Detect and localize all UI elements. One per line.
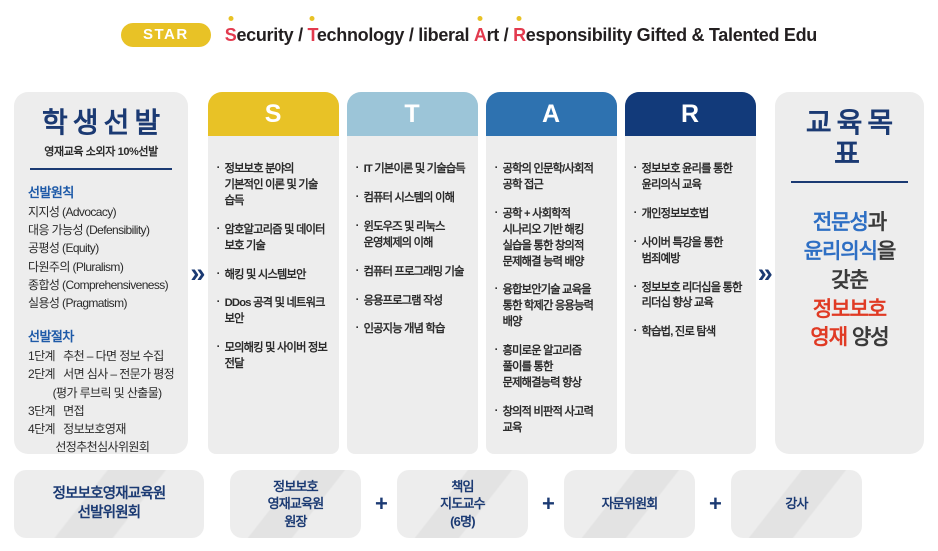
main-row: 학생선발 영재교육 소외자 10%선발 선발원칙 지지성 (Advocacy)대… bbox=[14, 92, 924, 454]
principle-item: 실용성 (Pragmatism) bbox=[28, 294, 174, 312]
star-item: 응용프로그램 작성 bbox=[356, 294, 469, 310]
bottom-box-instructors: 강사 bbox=[731, 470, 862, 538]
star-item: 공학 + 사회학적 시나리오 기반 해킹 실습을 통한 창의적 문제해결 능력 … bbox=[495, 207, 608, 271]
star-item: 컴퓨터 프로그래밍 기술 bbox=[356, 265, 469, 281]
selection-process-heading: 선발절차 bbox=[28, 326, 174, 345]
bottom-box-advisory: 자문위원회 bbox=[564, 470, 695, 538]
goal-segment: 을 bbox=[877, 240, 895, 263]
process-item: 2단계 서면 심사 – 전문가 평정 bbox=[28, 365, 174, 383]
star-column-body-S: 정보보호 분야의 기본적인 이론 및 기술 습득암호알고리즘 및 데이터 보호 … bbox=[208, 136, 339, 454]
goal-segment: 갖춘 bbox=[831, 269, 868, 292]
star-item: 공학의 인문학/사회적 공학 접근 bbox=[495, 162, 608, 194]
bottom-box-line: 영재교육원 bbox=[268, 496, 324, 511]
bottom-box-text: 책임지도교수(6명) bbox=[440, 478, 485, 530]
tagline-text-3: echnology / liberal bbox=[317, 25, 474, 45]
star-item: 모의해킹 및 사이버 정보 전달 bbox=[217, 341, 330, 373]
bottom-box-text: 정보보호영재교육원선발위원회 bbox=[53, 485, 166, 524]
divider bbox=[791, 181, 908, 183]
goal-segment: 정보보호 bbox=[813, 298, 886, 321]
selection-process-list: 1단계 추천 – 다면 정보 수집2단계 서면 심사 – 전문가 평정 (평가 … bbox=[28, 347, 174, 456]
bottom-box-text: 정보보호영재교육원원장 bbox=[268, 478, 324, 530]
process-item: (평가 루브릭 및 산출물) bbox=[28, 384, 174, 402]
goal-segment: 영재 bbox=[810, 326, 847, 349]
bottom-row: 정보보호영재교육원선발위원회 정보보호영재교육원원장 + 책임지도교수(6명) … bbox=[14, 470, 924, 538]
star-column-header-S: S bbox=[208, 92, 339, 136]
star-column-body-T: IT 기본이론 및 기술습득컴퓨터 시스템의 이해윈도우즈 및 리눅스 운영체제… bbox=[347, 136, 478, 454]
star-columns: S정보보호 분야의 기본적인 이론 및 기술 습득암호알고리즘 및 데이터 보호… bbox=[208, 92, 756, 454]
student-selection-panel: 학생선발 영재교육 소외자 10%선발 선발원칙 지지성 (Advocacy)대… bbox=[14, 92, 188, 454]
star-item: 윈도우즈 및 리눅스 운영체제의 이해 bbox=[356, 220, 469, 252]
principle-item: 지지성 (Advocacy) bbox=[28, 203, 174, 221]
bottom-box-line: 정보보호 bbox=[273, 479, 318, 494]
bottom-box-line: 강사 bbox=[785, 496, 807, 511]
student-selection-title: 학생선발 bbox=[28, 108, 174, 139]
process-item: 1단계 추천 – 다면 정보 수집 bbox=[28, 347, 174, 365]
chevron-right-icon-left: » bbox=[188, 92, 207, 454]
education-goal-text: 전문성과윤리의식을갖춘정보보호영재 양성 bbox=[789, 209, 910, 354]
goal-segment: 윤리의식 bbox=[804, 240, 877, 263]
goal-segment: 전문성 bbox=[813, 211, 868, 234]
star-item: 정보보호 리더십을 통한 리더십 향상 교육 bbox=[634, 281, 747, 313]
plus-icon-3: + bbox=[709, 493, 717, 515]
tagline: Security / Technology / liberal Art / Re… bbox=[225, 25, 817, 46]
star-column-R: R정보보호 윤리를 통한 윤리의식 교육개인정보보호법사이버 특강을 통한 범죄… bbox=[625, 92, 756, 454]
bottom-box-text: 강사 bbox=[785, 495, 807, 512]
star-badge: STAR bbox=[121, 23, 211, 47]
bottom-box-line: 자문위원회 bbox=[602, 496, 658, 511]
divider bbox=[30, 168, 172, 170]
star-item: DDos 공격 및 네트워크 보안 bbox=[217, 296, 330, 328]
goal-line: 정보보호 bbox=[789, 296, 910, 325]
star-item: 학습법, 진로 탐색 bbox=[634, 325, 747, 341]
tagline-text-5: rt / bbox=[487, 25, 514, 45]
star-column-A: A공학의 인문학/사회적 공학 접근공학 + 사회학적 시나리오 기반 해킹 실… bbox=[486, 92, 617, 454]
education-goal-panel: 교육목표 전문성과윤리의식을갖춘정보보호영재 양성 bbox=[775, 92, 924, 454]
star-column-header-R: R bbox=[625, 92, 756, 136]
goal-line: 갖춘 bbox=[789, 267, 910, 296]
tagline-capital-T: T bbox=[307, 25, 316, 45]
bottom-box-line: 책임 bbox=[451, 479, 473, 494]
selection-principles-heading: 선발원칙 bbox=[28, 182, 174, 201]
tagline-capital-A: A bbox=[474, 25, 487, 45]
goal-segment: 과 bbox=[868, 211, 886, 234]
process-item: 선정추천심사위원회 bbox=[28, 438, 174, 456]
bottom-box-director: 정보보호영재교육원원장 bbox=[230, 470, 361, 538]
star-item: 정보보호 윤리를 통한 윤리의식 교육 bbox=[634, 162, 747, 194]
principle-item: 공평성 (Equity) bbox=[28, 239, 174, 257]
selection-principles-list: 지지성 (Advocacy)대응 가능성 (Defensibility)공평성 … bbox=[28, 203, 174, 312]
process-item: 3단계 면접 bbox=[28, 402, 174, 420]
star-column-S: S정보보호 분야의 기본적인 이론 및 기술 습득암호알고리즘 및 데이터 보호… bbox=[208, 92, 339, 454]
tagline-capital-S: S bbox=[225, 25, 237, 45]
star-item: 흥미로운 알고리즘 풀이를 통한 문제해결능력 향상 bbox=[495, 344, 608, 392]
principle-item: 대응 가능성 (Defensibility) bbox=[28, 221, 174, 239]
student-selection-subtitle: 영재교육 소외자 10%선발 bbox=[28, 143, 174, 159]
star-item: 사이버 특강을 통한 범죄예방 bbox=[634, 236, 747, 268]
star-item: 융합보안기술 교육을 통한 학제간 응용능력 배양 bbox=[495, 283, 608, 331]
star-item: 컴퓨터 시스템의 이해 bbox=[356, 191, 469, 207]
plus-icon-2: + bbox=[542, 493, 550, 515]
star-item: 정보보호 분야의 기본적인 이론 및 기술 습득 bbox=[217, 162, 330, 210]
bottom-box-text: 자문위원회 bbox=[602, 495, 658, 512]
bottom-box-line: 지도교수 bbox=[440, 496, 485, 511]
bottom-box-line: (6명) bbox=[450, 514, 475, 529]
tagline-capital-R: R bbox=[513, 25, 526, 45]
star-item: 해킹 및 시스템보안 bbox=[217, 268, 330, 284]
bottom-box-professors: 책임지도교수(6명) bbox=[397, 470, 528, 538]
education-goal-title: 교육목표 bbox=[789, 108, 910, 170]
star-column-body-A: 공학의 인문학/사회적 공학 접근공학 + 사회학적 시나리오 기반 해킹 실습… bbox=[486, 136, 617, 454]
bottom-box-line: 원장 bbox=[284, 514, 306, 529]
principle-item: 다원주의 (Pluralism) bbox=[28, 258, 174, 276]
goal-line: 전문성과 bbox=[789, 209, 910, 238]
star-column-body-R: 정보보호 윤리를 통한 윤리의식 교육개인정보보호법사이버 특강을 통한 범죄예… bbox=[625, 136, 756, 454]
goal-segment: 양성 bbox=[847, 326, 888, 349]
bottom-box-line: 정보보호영재교육원 bbox=[53, 486, 166, 502]
star-item: 인공지능 개념 학습 bbox=[356, 322, 469, 338]
title-bar: STAR Security / Technology / liberal Art… bbox=[0, 14, 938, 56]
star-item: 암호알고리즘 및 데이터 보호 기술 bbox=[217, 223, 330, 255]
star-column-header-T: T bbox=[347, 92, 478, 136]
tagline-text-1: ecurity / bbox=[236, 25, 307, 45]
selection-committee-box: 정보보호영재교육원선발위원회 bbox=[14, 470, 204, 538]
star-item: 개인정보보호법 bbox=[634, 207, 747, 223]
tagline-text-7: esponsibility Gifted & Talented Edu bbox=[526, 25, 817, 45]
chevron-right-icon-right: » bbox=[756, 92, 775, 454]
goal-line: 영재 양성 bbox=[789, 324, 910, 353]
goal-line: 윤리의식을 bbox=[789, 238, 910, 267]
star-column-header-A: A bbox=[486, 92, 617, 136]
star-item: IT 기본이론 및 기술습득 bbox=[356, 162, 469, 178]
plus-icon-1: + bbox=[375, 493, 383, 515]
process-item: 4단계 정보보호영재 bbox=[28, 420, 174, 438]
star-column-T: TIT 기본이론 및 기술습득컴퓨터 시스템의 이해윈도우즈 및 리눅스 운영체… bbox=[347, 92, 478, 454]
star-item: 창의적 비판적 사고력 교육 bbox=[495, 405, 608, 437]
principle-item: 종합성 (Comprehensiveness) bbox=[28, 276, 174, 294]
bottom-box-line: 선발위원회 bbox=[78, 505, 141, 521]
